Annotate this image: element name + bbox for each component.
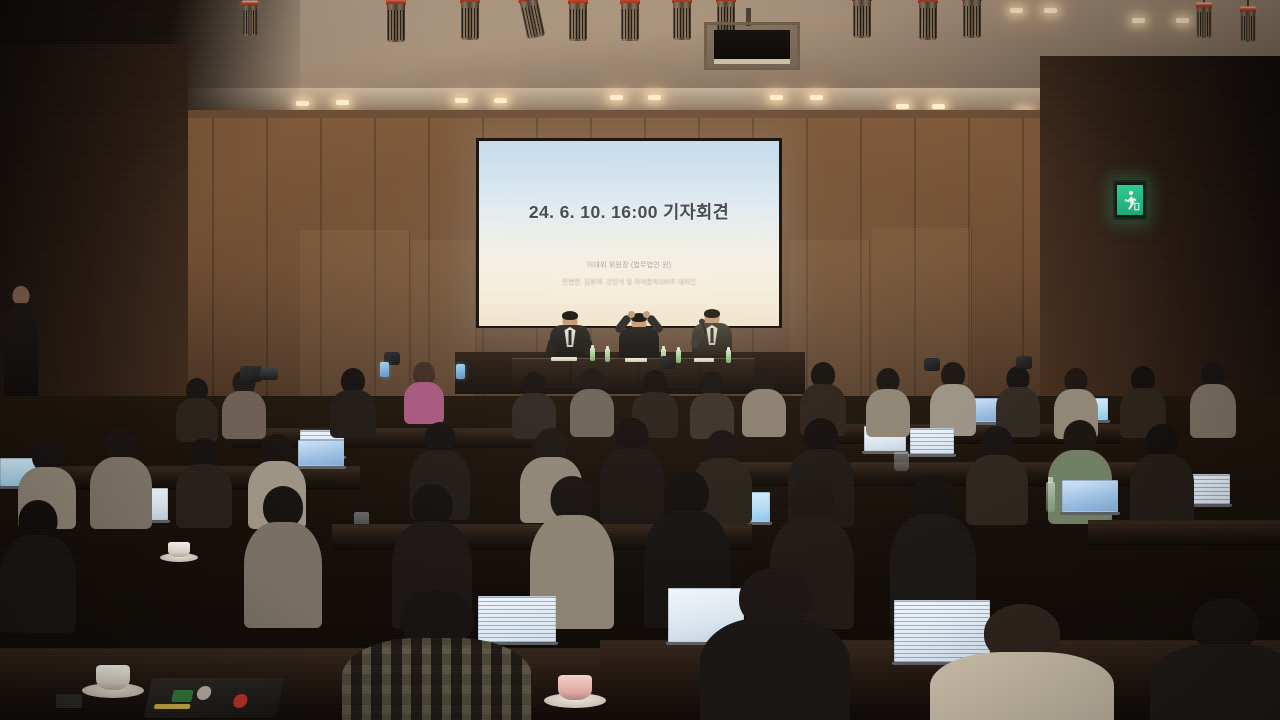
running-person-exit-icon: [1117, 185, 1143, 215]
downlight: [296, 101, 309, 106]
water-bottle: [1046, 482, 1055, 512]
smartphone: [380, 362, 389, 377]
sticker: [171, 690, 194, 702]
stage-light: [852, 0, 872, 40]
audience-member: [1190, 362, 1236, 434]
ceiling-projector: [704, 22, 800, 70]
stage-light: [962, 0, 982, 40]
documents: [551, 357, 577, 361]
water-bottle: [605, 349, 610, 362]
panelist-center: [617, 308, 661, 362]
audience-member: [0, 500, 76, 630]
stage-light: [1196, 3, 1212, 40]
drinking-glass: [894, 452, 909, 471]
slide-subtitle-line-1: 이대위 위원장 (법무법인 원): [587, 260, 672, 270]
audience-member: [742, 368, 786, 432]
panelist-left: [548, 310, 592, 362]
stage-light: [1240, 7, 1256, 44]
audience-member: [690, 372, 734, 434]
camera: [924, 358, 940, 371]
audience-member: [90, 428, 152, 526]
wall-pillar-right: [1040, 56, 1280, 416]
stage-light: [918, 0, 938, 42]
downlight: [1010, 8, 1023, 13]
panelist-hand: [628, 311, 635, 318]
coffee-cup: [544, 672, 606, 708]
panelist-hand: [643, 311, 650, 318]
downlight: [494, 98, 507, 103]
water-bottle: [726, 350, 731, 363]
audience-member: [866, 368, 910, 432]
laptop: [1062, 480, 1118, 512]
audience-member: [996, 366, 1040, 432]
documents: [625, 358, 647, 362]
coffee-cup: [82, 662, 144, 698]
audience-member-foreground: [1150, 598, 1280, 720]
camera: [1016, 356, 1032, 369]
downlight: [770, 95, 783, 100]
water-bottle: [676, 350, 681, 363]
downlight: [1044, 8, 1057, 13]
audience-member-foreground: [930, 604, 1114, 720]
downlight: [932, 104, 945, 109]
stage-light: [672, 0, 692, 42]
downlight: [648, 95, 661, 100]
stage-light: [242, 1, 258, 38]
sticker: [232, 694, 249, 708]
audience-member: [1130, 424, 1194, 524]
downlight: [1176, 18, 1189, 23]
audience-member: [930, 362, 976, 432]
audience-member: [244, 486, 322, 626]
audience-member: [176, 438, 232, 526]
audience-member: [176, 378, 218, 438]
documents: [694, 358, 714, 362]
stage-light: [620, 0, 640, 43]
downlight: [455, 98, 468, 103]
projection-screen: 24. 6. 10. 16:00 기자회견 이대위 위원장 (법무법인 원) 민…: [479, 141, 779, 326]
projection-screen-frame: 24. 6. 10. 16:00 기자회견 이대위 위원장 (법무법인 원) 민…: [476, 138, 782, 328]
audience-desk-row-3: [1088, 520, 1280, 546]
downlight: [1132, 18, 1145, 23]
downlight: [810, 95, 823, 100]
stage-light: [386, 0, 406, 44]
downlight: [896, 104, 909, 109]
sticker: [154, 704, 191, 709]
stage-light: [460, 0, 480, 42]
laptop: [910, 428, 954, 454]
audience-member-foreground: [342, 590, 532, 720]
slide-title: 24. 6. 10. 16:00 기자회견: [529, 199, 729, 224]
sticker: [196, 686, 213, 700]
smartphone-on-desk: [56, 694, 82, 708]
slide-subtitle-line-2: 민변한, 김용태, 강민석 및 아이클릭100주 대리인: [562, 276, 696, 286]
audience-member: [512, 372, 556, 434]
stage-light: [568, 0, 588, 43]
audience-member: [330, 368, 376, 434]
emergency-exit-sign: [1113, 180, 1147, 220]
downlight: [610, 95, 623, 100]
audience-member-foreground: [700, 568, 850, 720]
photographer: [404, 358, 444, 420]
coffee-cup: [160, 540, 198, 562]
downlight: [336, 100, 349, 105]
camera-with-telephoto-lens: [240, 366, 262, 382]
camera: [660, 356, 676, 369]
water-bottle: [590, 348, 595, 361]
smartphone: [456, 364, 465, 379]
laptop-with-stickers: [144, 678, 285, 718]
standing-attendee-left: [4, 286, 38, 406]
press-conference-scene: 24. 6. 10. 16:00 기자회견 이대위 위원장 (법무법인 원) 민…: [0, 0, 1280, 720]
